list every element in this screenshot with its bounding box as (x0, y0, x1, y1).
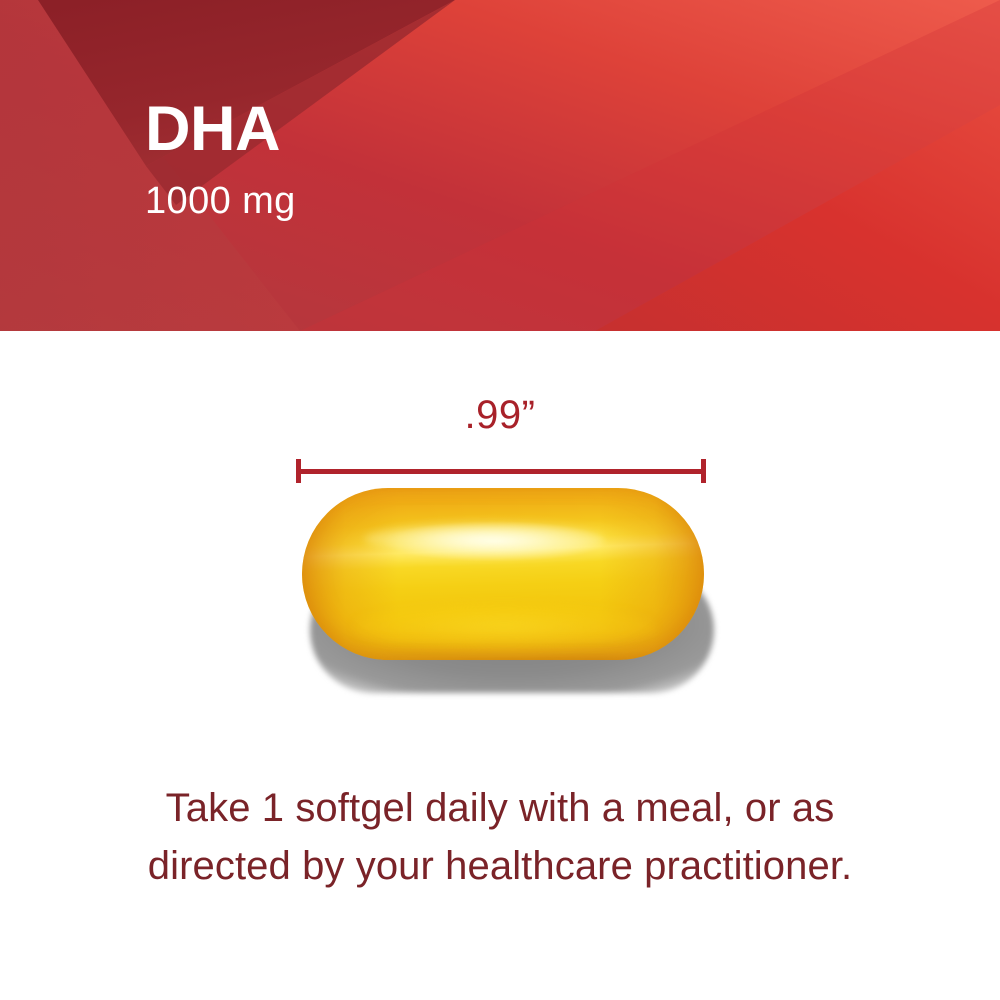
dimension-cap-right-icon (701, 459, 706, 483)
header-text-block: DHA 1000 mg (145, 96, 296, 222)
dimension-line (296, 469, 706, 474)
header-banner: DHA 1000 mg (0, 0, 1000, 331)
softgel-bottom-glow (354, 604, 654, 650)
product-display-area: .99” Take 1 softgel daily with a meal, o… (0, 331, 1000, 1000)
dimension-rule (296, 459, 706, 483)
product-dosage-label: 1000 mg (145, 162, 296, 222)
dimension-measurement-label: .99” (0, 393, 1000, 437)
product-infographic: DHA 1000 mg .99” Take 1 softgel daily wi… (0, 0, 1000, 1000)
directions-line-1: Take 1 softgel daily with a meal, or as (0, 779, 1000, 837)
softgel-capsule-figure (288, 481, 724, 711)
softgel-capsule-icon (302, 488, 704, 660)
directions-line-2: directed by your healthcare practitioner… (0, 837, 1000, 895)
page-title: DHA (145, 96, 296, 162)
directions-text: Take 1 softgel daily with a meal, or as … (0, 779, 1000, 895)
softgel-specular-highlight (364, 524, 604, 554)
